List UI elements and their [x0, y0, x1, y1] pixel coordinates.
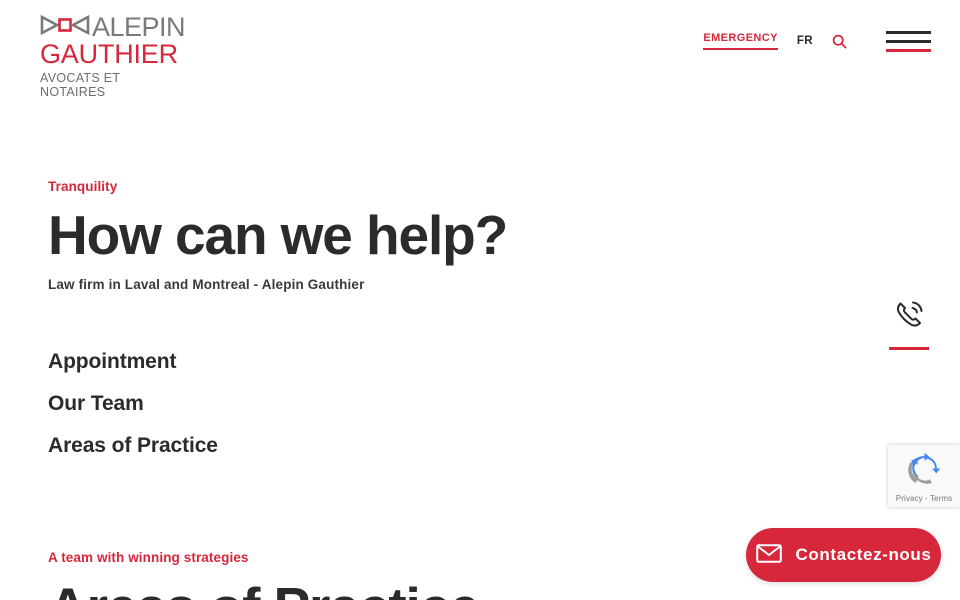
list-item[interactable]: Appointment	[48, 348, 176, 376]
phone-widget-underline	[889, 347, 929, 350]
brand-name-gauthier: GAUTHIER	[40, 41, 180, 68]
hamburger-bar-middle	[886, 40, 931, 43]
nav-link-emergency[interactable]: EMERGENCY	[703, 32, 778, 50]
list-item[interactable]: Our Team	[48, 390, 144, 418]
section-two-eyebrow: A team with winning strategies	[48, 549, 808, 566]
phone-call-widget[interactable]	[888, 296, 930, 350]
hero-section: Tranquility How can we help? Law firm in…	[48, 178, 748, 293]
search-icon[interactable]	[832, 34, 847, 49]
contact-us-button-label: Contactez-nous	[796, 545, 932, 565]
hamburger-bar-bottom	[886, 49, 931, 52]
contact-us-button[interactable]: Contactez-nous	[746, 528, 941, 582]
recaptcha-badge[interactable]: Privacy - Terms	[888, 445, 960, 507]
section-areas-of-practice: A team with winning strategies Areas of …	[48, 549, 808, 600]
page-title: How can we help?	[48, 204, 748, 266]
bowtie-logo-icon	[40, 14, 90, 41]
recaptcha-privacy-terms-text[interactable]: Privacy - Terms	[896, 494, 952, 503]
hero-subtitle: Law firm in Laval and Montreal - Alepin …	[48, 276, 748, 293]
header-navigation: EMERGENCY FR	[703, 30, 931, 52]
site-header: ALEPIN GAUTHIER AVOCATS ET NOTAIRES EMER…	[0, 0, 960, 95]
hero-eyebrow: Tranquility	[48, 178, 748, 195]
phone-call-icon	[890, 296, 928, 339]
brand-primary-line: ALEPIN	[40, 13, 180, 42]
envelope-icon	[756, 544, 782, 566]
brand-name-alepin: ALEPIN	[92, 13, 185, 42]
quick-links-list: Appointment Our Team Areas of Practice	[48, 348, 468, 474]
brand-tagline: AVOCATS ET NOTAIRES	[40, 71, 180, 99]
section-two-title: Areas of Practice	[48, 576, 808, 600]
list-item[interactable]: Areas of Practice	[48, 432, 218, 460]
hamburger-menu-icon[interactable]	[886, 30, 931, 52]
nav-language-switch-fr[interactable]: FR	[797, 35, 813, 48]
brand-logo[interactable]: ALEPIN GAUTHIER AVOCATS ET NOTAIRES	[40, 13, 180, 99]
recaptcha-logo-icon	[908, 452, 941, 490]
hamburger-bar-top	[886, 31, 931, 34]
